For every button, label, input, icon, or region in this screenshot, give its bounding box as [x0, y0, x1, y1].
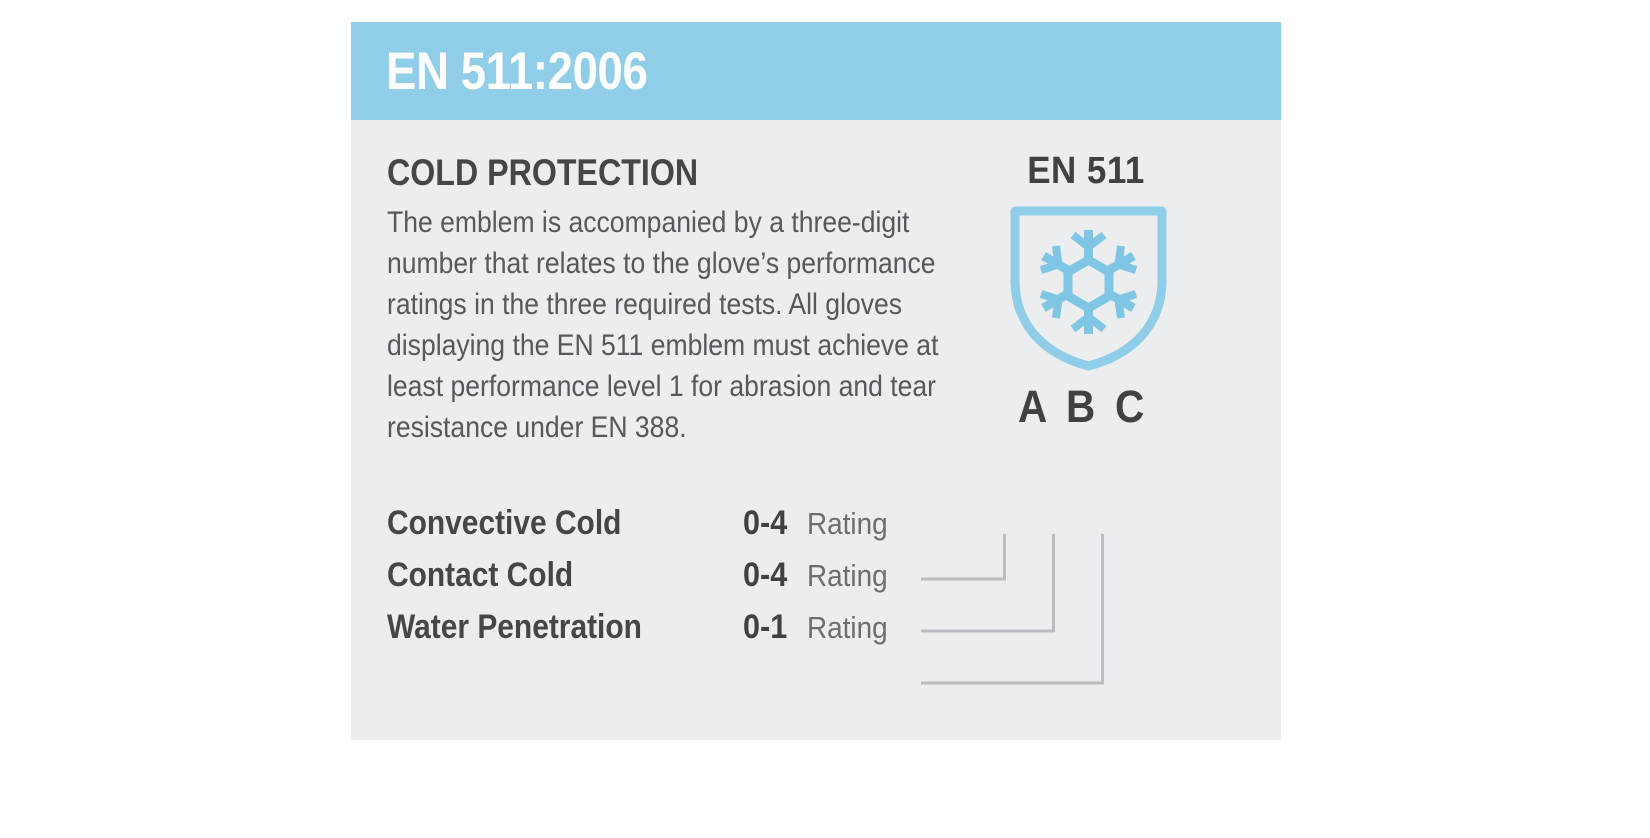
letter-a: A — [1018, 382, 1047, 432]
rating-word: Rating — [807, 555, 888, 597]
rating-range: 0-4 — [743, 554, 787, 596]
en511-info-card: EN 511:2006 COLD PROTECTION The emblem i… — [351, 22, 1281, 740]
table-row: Convective Cold 0-4 Rating — [387, 502, 947, 554]
table-row: Water Penetration 0-1 Rating — [387, 606, 947, 658]
rating-word: Rating — [807, 607, 888, 649]
letter-c: C — [1115, 382, 1144, 432]
snowflake-shield-icon — [1006, 202, 1171, 374]
rating-label: Convective Cold — [387, 502, 621, 544]
rating-range: 0-4 — [743, 502, 787, 544]
emblem-standard-label: EN 511 — [989, 150, 1182, 193]
rating-range: 0-1 — [743, 606, 787, 648]
page-title: EN 511:2006 — [386, 44, 647, 100]
card-body: COLD PROTECTION The emblem is accompanie… — [351, 120, 1281, 740]
emblem-column: EN 511 — [951, 120, 1281, 740]
rating-label: Contact Cold — [387, 554, 573, 596]
card-header-bar: EN 511:2006 — [351, 22, 1281, 120]
rating-word: Rating — [807, 503, 888, 545]
abc-letters: A B C — [981, 382, 1191, 434]
rating-label: Water Penetration — [387, 606, 642, 648]
ratings-list: Convective Cold 0-4 Rating Contact Cold … — [387, 502, 947, 658]
letter-b: B — [1066, 382, 1095, 432]
description-text: The emblem is accompanied by a three-dig… — [387, 202, 945, 448]
table-row: Contact Cold 0-4 Rating — [387, 554, 947, 606]
section-title: COLD PROTECTION — [387, 152, 698, 194]
